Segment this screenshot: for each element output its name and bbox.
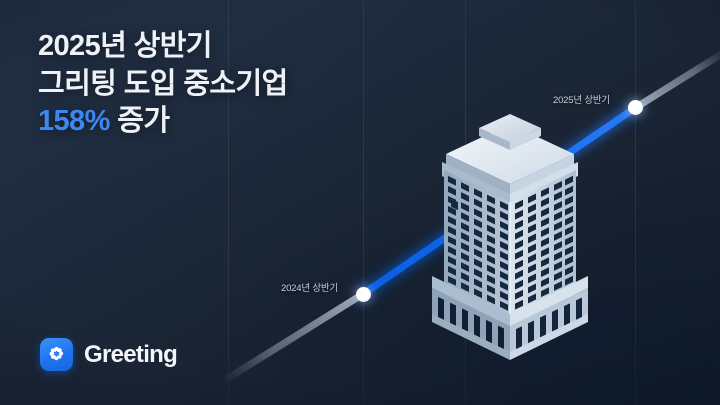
clover-leaf-icon <box>40 338 73 371</box>
headline-line-3: 158% 증가 <box>38 103 288 141</box>
data-point-label-2025: 2025년 상반기 <box>553 92 610 106</box>
office-building-illustration <box>418 112 602 367</box>
data-point-label-2024: 2024년 상반기 <box>281 280 338 294</box>
headline-block: 2025년 상반기 그리팅 도입 중소기업 158% 증가 <box>38 28 288 141</box>
headline-line-2: 그리팅 도입 중소기업 <box>38 66 288 104</box>
data-point-marker-2024 <box>356 287 371 302</box>
headline-line-1: 2025년 상반기 <box>38 28 288 66</box>
grid-line-2 <box>363 0 364 405</box>
greeting-logo[interactable]: Greeting <box>40 338 177 371</box>
trend-segment-future <box>635 55 720 108</box>
data-point-marker-2025 <box>628 100 643 115</box>
infographic-canvas: 2025년 상반기 그리팅 도입 중소기업 158% 증가 <box>0 0 720 405</box>
growth-percent-suffix: 증가 <box>110 105 170 137</box>
logo-wordmark: Greeting <box>84 341 177 369</box>
trend-segment-past <box>222 294 363 382</box>
grid-line-4 <box>635 0 636 405</box>
growth-percent-value: 158% <box>38 105 110 137</box>
